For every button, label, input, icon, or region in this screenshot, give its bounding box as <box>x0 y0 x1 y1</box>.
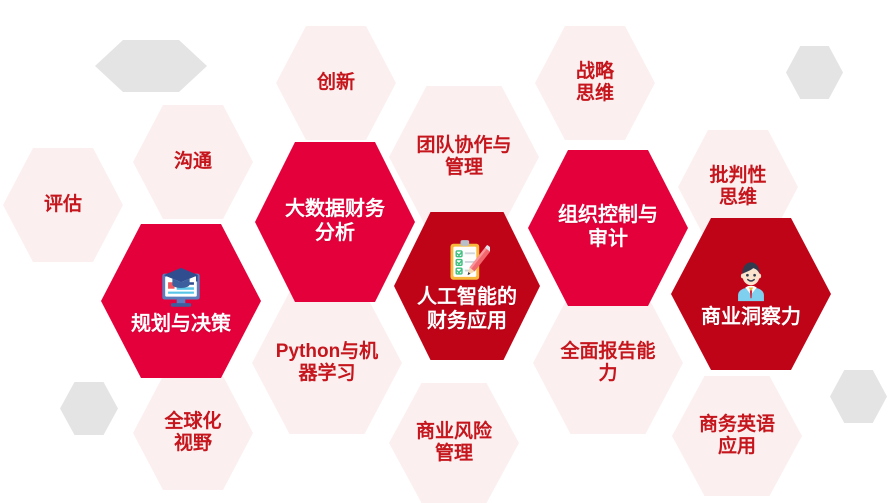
hex-label-ping-gu: 评估 <box>34 194 91 216</box>
hex-cell-deco-grey-top-right <box>786 46 843 99</box>
hex-label-quan-mian-bao-gao: 全面报告能 力 <box>548 341 667 386</box>
clipboard-checklist-pencil-icon <box>444 238 490 284</box>
hex-label-python-ml: Python与机 器学习 <box>264 341 390 386</box>
hex-cell-deco-grey-bottom-left <box>60 382 118 435</box>
infographic-canvas: 评估沟通创新团队协作与 管理战略 思维批判性 思维Python与机 器学习全球化… <box>0 0 892 497</box>
hex-label-gou-tong: 沟通 <box>164 151 221 173</box>
hex-label-shang-ye-dong-cha: 商业洞察力 <box>688 306 814 330</box>
hex-label-shang-wu-ying-yu: 商务英语 应用 <box>689 414 786 459</box>
hex-cell-gui-hua-jue-ce[interactable]: 规划与决策 <box>101 224 261 378</box>
monitor-graduation-cap-icon <box>158 265 204 311</box>
hex-cell-da-shu-ju[interactable]: 大数据财务 分析 <box>255 142 415 302</box>
hex-cell-zu-zhi-kong-zhi[interactable]: 组织控制与 审计 <box>528 150 688 306</box>
student-avatar-icon <box>728 258 774 304</box>
hex-cell-chuang-xin[interactable]: 创新 <box>276 26 396 140</box>
hex-label-chuang-xin: 创新 <box>307 72 364 94</box>
hex-label-ren-gong-zhi-neng: 人工智能的 财务应用 <box>405 286 528 333</box>
hex-label-da-shu-ju: 大数据财务 分析 <box>272 198 398 245</box>
hex-cell-deco-grey-top-left <box>95 40 207 92</box>
hex-cell-shang-wu-ying-yu[interactable]: 商务英语 应用 <box>672 376 802 496</box>
hex-cell-deco-grey-bottom-right <box>830 370 887 423</box>
hex-cell-gou-tong[interactable]: 沟通 <box>133 105 253 219</box>
hex-cell-ren-gong-zhi-neng[interactable]: 人工智能的 财务应用 <box>394 212 540 360</box>
hex-cell-tuan-dui[interactable]: 团队协作与 管理 <box>389 86 539 228</box>
hex-label-quan-qiu-hua: 全球化 视野 <box>155 411 231 456</box>
hex-cell-ping-gu[interactable]: 评估 <box>3 148 123 262</box>
hex-cell-quan-mian-bao-gao[interactable]: 全面报告能 力 <box>533 292 683 434</box>
hex-cell-python-ml[interactable]: Python与机 器学习 <box>252 292 402 434</box>
hex-label-zu-zhi-kong-zhi: 组织控制与 审计 <box>545 204 671 251</box>
hex-label-shang-ye-feng-xian: 商业风险 管理 <box>406 421 503 466</box>
hex-cell-shang-ye-feng-xian[interactable]: 商业风险 管理 <box>389 383 519 503</box>
hex-label-tuan-dui: 团队协作与 管理 <box>404 135 523 180</box>
hex-cell-shang-ye-dong-cha[interactable]: 商业洞察力 <box>671 218 831 370</box>
hex-label-pi-pan-xing: 批判性 思维 <box>700 165 776 210</box>
hex-label-gui-hua-jue-ce: 规划与决策 <box>118 313 244 337</box>
hex-cell-zhan-lue[interactable]: 战略 思维 <box>535 26 655 140</box>
hex-cell-quan-qiu-hua[interactable]: 全球化 视野 <box>133 376 253 490</box>
hex-label-zhan-lue: 战略 思维 <box>566 61 623 106</box>
